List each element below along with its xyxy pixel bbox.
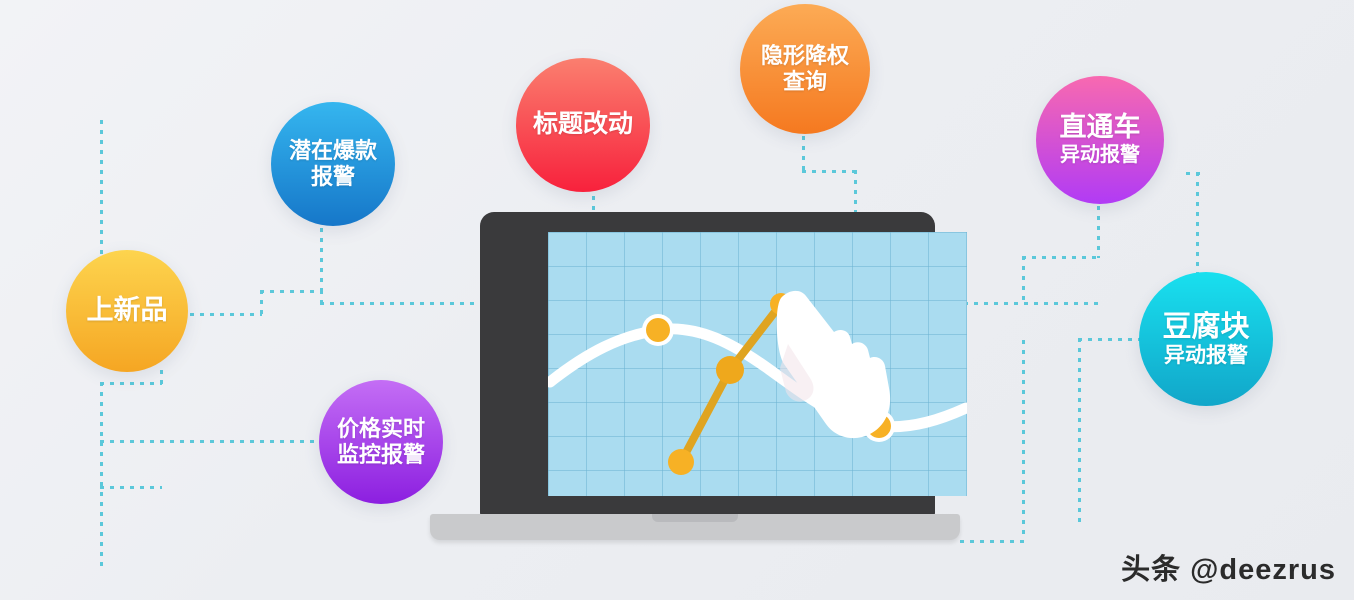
bubble-price-realtime-monitor-alert[interactable]: 价格实时监控报警 [319,380,443,504]
connector-left-outer-vertical [100,120,103,274]
connector-right-main-run [944,302,1104,305]
selection-marker-mid [716,356,744,384]
laptop-illustration [430,212,960,537]
connector-left-lower-vertical [100,382,103,568]
bubble-title-change-line1: 标题改动 [533,110,633,140]
bubble-title-change[interactable]: 标题改动 [516,58,650,192]
bubble-hidden-demotion-query-line1: 隐形降权 [761,43,849,69]
connector-hidden-demotion-down [802,136,805,172]
connector-mid-left-run [260,290,322,293]
hand-pointer-cursor [777,291,890,438]
selection-marker-low [668,449,694,475]
connector-right-stub-upper [1186,172,1200,175]
connector-right-lower-run [960,540,1024,543]
laptop-lid [480,212,935,517]
connector-new-product-right [190,313,262,316]
connector-left-stub [100,382,162,385]
bubble-potential-hot-item-alert[interactable]: 潜在爆款报警 [271,102,395,226]
connector-hidden-demotion-run [802,170,856,173]
connector-blue-bubble-stub [320,290,323,306]
connector-zhitongche-down [1097,206,1100,258]
connector-blue-bubble-drop [320,228,323,292]
connector-doufukuai-drop [1078,338,1081,528]
analytics-chart [548,232,967,496]
watermark-text: 头条 @deezrus [1121,546,1336,588]
bubble-potential-hot-item-alert-line2: 报警 [311,164,355,190]
bubble-doufukuai-anomaly-alert-line2: 异动报警 [1164,344,1248,369]
connector-zhitongche-run [1022,256,1100,259]
bubble-price-realtime-monitor-alert-line1: 价格实时 [337,416,425,442]
bubble-zhitongche-anomaly-alert-line1: 直通车 [1060,112,1141,144]
bubble-doufukuai-anomaly-alert-line1: 豆腐块 [1162,310,1249,344]
bubble-price-realtime-monitor-alert-line2: 监控报警 [337,442,425,468]
bubble-hidden-demotion-query[interactable]: 隐形降权查询 [740,4,870,134]
connector-mid-left-riser [260,290,263,316]
trend-line [550,329,966,427]
connector-right-lower-vertical [1022,340,1025,540]
bubble-potential-hot-item-alert-line1: 潜在爆款 [289,138,377,164]
laptop-screen [548,232,967,496]
bubble-doufukuai-anomaly-alert[interactable]: 豆腐块异动报警 [1139,272,1273,406]
bubble-zhitongche-anomaly-alert-line2: 异动报警 [1060,144,1140,168]
bubble-hidden-demotion-query-line2: 查询 [783,69,827,95]
infographic-canvas: 上新品潜在爆款报警标题改动隐形降权查询直通车异动报警价格实时监控报警豆腐块异动报… [0,0,1354,600]
connector-zhitongche-drop [1022,256,1025,304]
trend-marker-1-core [646,318,670,342]
bubble-new-product[interactable]: 上新品 [66,250,188,372]
connector-new-product-down [160,370,163,388]
connector-hidden-demotion-drop [854,170,857,218]
connector-left-lower-horizontal-top [100,486,162,489]
bubble-zhitongche-anomaly-alert[interactable]: 直通车异动报警 [1036,76,1164,204]
laptop-base [430,514,960,540]
connector-right-far-vertical [1196,172,1199,282]
bubble-new-product-line1: 上新品 [87,295,168,327]
